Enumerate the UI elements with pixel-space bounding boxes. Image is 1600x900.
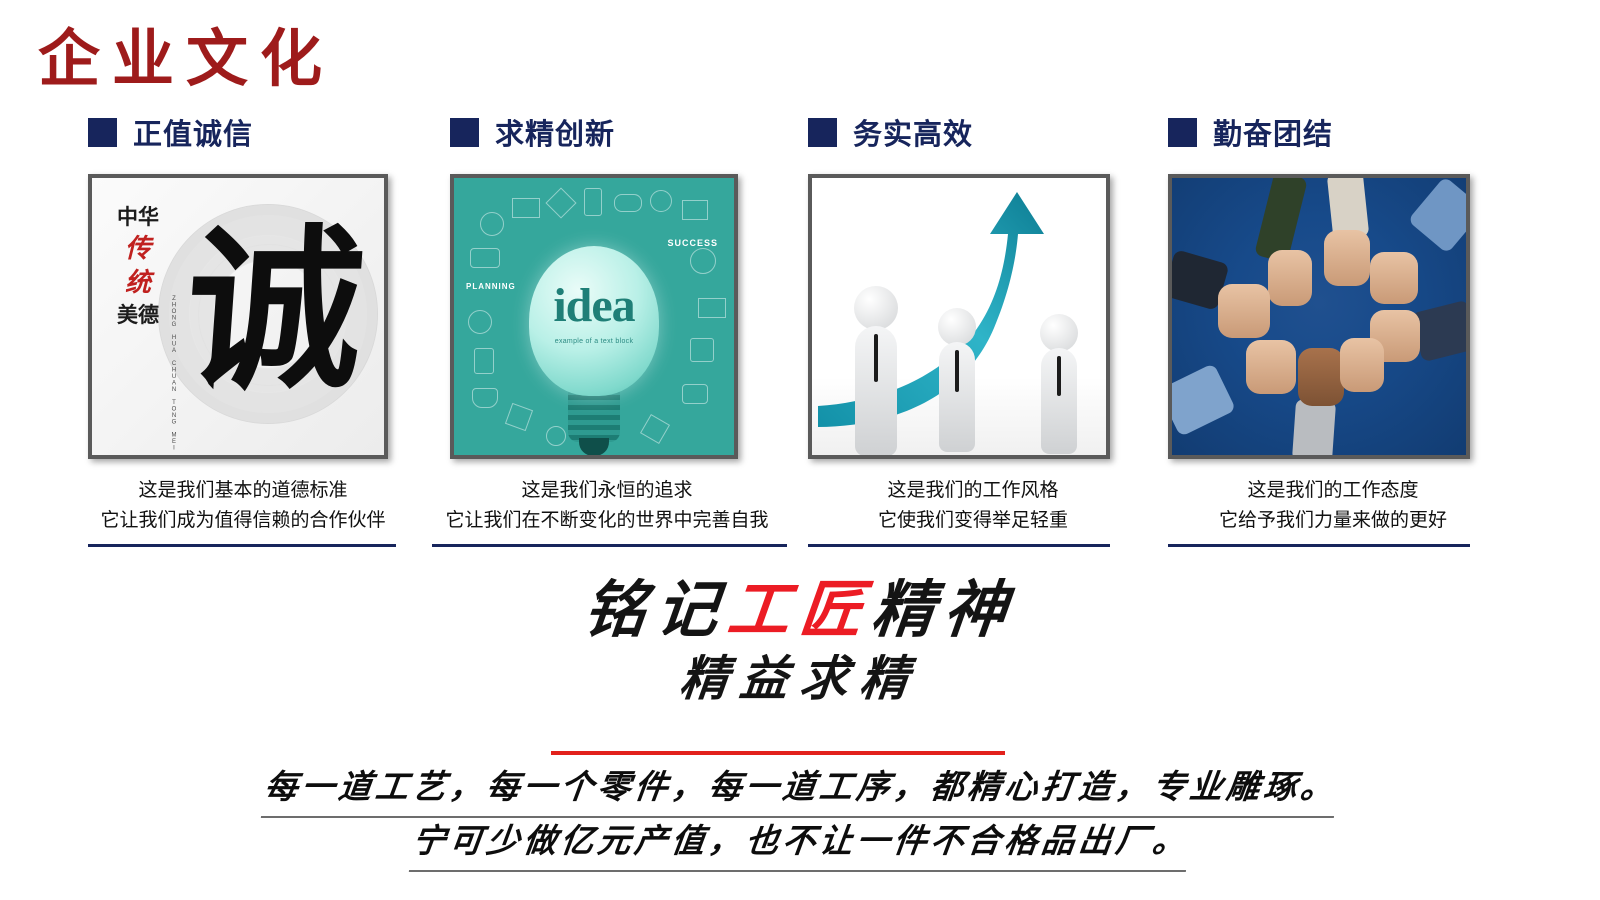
- statement-text: 每一道工艺，每一个零件，每一道工序，都精心打造，专业雕琢。: [260, 766, 1339, 818]
- fist-6: [1246, 340, 1296, 394]
- pillar-header: 勤奋团结: [1168, 112, 1478, 152]
- caption-group-efficiency: 这是我们的工作风格 它使我们变得举足轻重: [790, 476, 1156, 536]
- pillar-heading: 正值诚信: [133, 111, 253, 153]
- virtue-text-line-1: 中华: [114, 202, 162, 232]
- square-bullet-icon: [88, 118, 117, 147]
- caption-group-innovation: 这是我们永恒的追求 它让我们在不断变化的世界中完善自我: [424, 476, 790, 536]
- slogan-part-2: 精神: [868, 577, 1019, 645]
- figure-middle: [938, 308, 976, 346]
- pillar-image-chinese-virtue-calligraphy[interactable]: 中华 传统 美德 ZHONG HUA CHUAN TONG MEI DE 诚: [88, 174, 388, 459]
- fist-3: [1370, 252, 1418, 304]
- bulb-subtext: example of a text block: [529, 338, 659, 345]
- statement-text: 宁可少做亿元产值，也不让一件不合格品出厂。: [408, 820, 1191, 872]
- craftsman-slogan: 铭记工匠精神 精益求精: [0, 575, 1600, 709]
- bulb-screw-base: [568, 390, 620, 442]
- caption-line: 它让我们成为值得信赖的合作伙伴: [60, 506, 426, 536]
- caption-line: 这是我们永恒的追求: [424, 476, 790, 506]
- pillar-heading: 勤奋团结: [1213, 111, 1333, 153]
- pillar-image-fist-bump-teamwork-circle[interactable]: [1168, 174, 1470, 459]
- square-bullet-icon: [808, 118, 837, 147]
- calligraphy-character: 诚: [159, 206, 388, 421]
- page-title: 企业文化: [38, 8, 334, 98]
- statement-row-1: 每一道工艺，每一个零件，每一道工序，都精心打造，专业雕琢。: [0, 766, 1600, 818]
- pillar-card-teamwork[interactable]: 勤奋团结: [1168, 112, 1478, 459]
- caption-line: 它让我们在不断变化的世界中完善自我: [424, 506, 790, 536]
- slide-root: 企业文化 正值诚信 中华 传统 美德 ZHONG HUA CHUAN TONG …: [0, 0, 1600, 900]
- doodle-label-planning: PLANNING: [466, 282, 516, 291]
- caption-group-integrity: 这是我们基本的道德标准 它让我们成为值得信赖的合作伙伴: [60, 476, 426, 536]
- pillar-heading: 求精创新: [495, 111, 615, 153]
- slogan-red-underline: [551, 751, 1005, 755]
- virtue-text-line-2: 传统: [114, 232, 162, 300]
- lightbulb-icon: idea example of a text block: [529, 246, 659, 396]
- square-bullet-icon: [1168, 118, 1197, 147]
- bulb-word: idea: [529, 282, 659, 330]
- square-bullet-icon: [450, 118, 479, 147]
- fist-1: [1268, 250, 1312, 306]
- pillar-divider-4: [1168, 544, 1470, 547]
- caption-line: 它使我们变得举足轻重: [790, 506, 1156, 536]
- pillar-card-integrity[interactable]: 正值诚信 中华 传统 美德 ZHONG HUA CHUAN TONG MEI D…: [88, 112, 398, 459]
- figure-left: [854, 286, 898, 330]
- slogan-line-2: 精益求精: [0, 651, 1600, 709]
- sleeve-6: [1168, 363, 1236, 437]
- pillar-card-efficiency[interactable]: 务实高效: [808, 112, 1113, 459]
- sleeve-7: [1292, 399, 1336, 459]
- vertical-virtue-text: 中华 传统 美德: [114, 202, 162, 330]
- fist-5: [1218, 284, 1270, 338]
- sleeve-3: [1407, 176, 1470, 254]
- doodle-label-success: SUCCESS: [667, 238, 718, 248]
- statement-row-2: 宁可少做亿元产值，也不让一件不合格品出厂。: [0, 820, 1600, 872]
- slogan-part-1: 铭记: [580, 577, 731, 645]
- pillar-header: 务实高效: [808, 112, 1113, 152]
- fist-2: [1324, 230, 1370, 286]
- figure-right: [1040, 314, 1078, 352]
- fist-8: [1340, 338, 1384, 392]
- pillar-header: 求精创新: [450, 112, 790, 152]
- caption-line: 这是我们的工作风格: [790, 476, 1156, 506]
- pillar-header: 正值诚信: [88, 112, 398, 152]
- caption-line: 这是我们的工作态度: [1150, 476, 1516, 506]
- pillar-image-growth-arrow-3d-figures[interactable]: [808, 174, 1110, 459]
- virtue-text-line-3: 美德: [114, 300, 162, 330]
- pillar-heading: 务实高效: [853, 111, 973, 153]
- slogan-highlight: 工匠: [724, 577, 875, 645]
- pillar-divider-2: [432, 544, 787, 547]
- pillar-image-idea-lightbulb-doodles[interactable]: PLANNING SUCCESS idea example of a text …: [450, 174, 738, 459]
- fist-7: [1298, 348, 1344, 406]
- pillar-divider-1: [88, 544, 396, 547]
- caption-line: 它给予我们力量来做的更好: [1150, 506, 1516, 536]
- caption-group-teamwork: 这是我们的工作态度 它给予我们力量来做的更好: [1150, 476, 1516, 536]
- slogan-line-1: 铭记工匠精神: [0, 575, 1600, 647]
- pillar-card-innovation[interactable]: 求精创新: [450, 112, 790, 459]
- caption-line: 这是我们基本的道德标准: [60, 476, 426, 506]
- pillar-divider-3: [808, 544, 1110, 547]
